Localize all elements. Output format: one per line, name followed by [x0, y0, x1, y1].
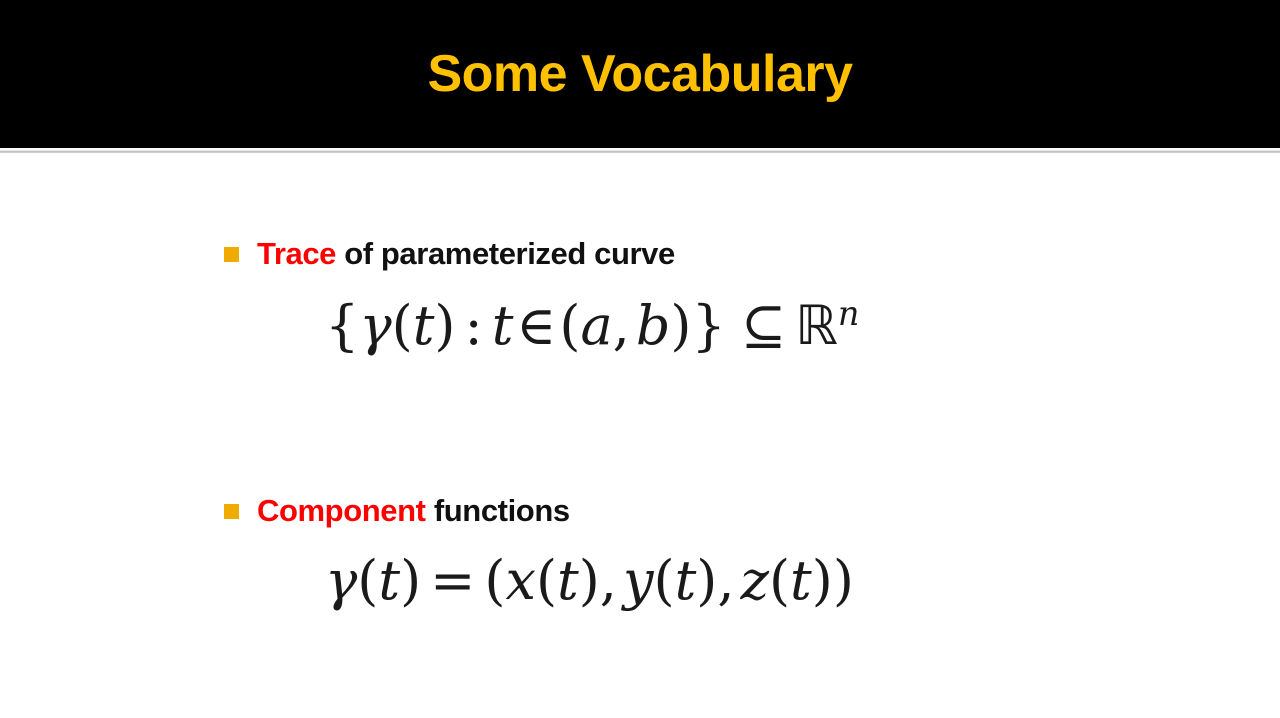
formula2-lparen-3: ( — [536, 549, 557, 612]
formula2-rparen-1: ) — [400, 549, 421, 612]
formula-close-brace: } — [692, 294, 726, 357]
slide-body: Trace of parameterized curve {γ(t):t∈(a,… — [0, 153, 1280, 718]
formula2-t-2: t — [557, 549, 579, 612]
formula2-rparen-5: ) — [812, 549, 833, 612]
bullet-text-trace: Trace of parameterized curve — [257, 238, 675, 269]
formula2-comma-2: , — [717, 549, 734, 612]
formula-component: γ(t)=(x(t),y(t),z(t)) — [0, 550, 1280, 612]
formula-gamma: γ — [359, 294, 391, 357]
formula-a: a — [580, 294, 612, 357]
slide-header-bar: Some Vocabulary — [0, 0, 1280, 148]
bullet-rest-trace: of parameterized curve — [336, 236, 675, 271]
formula2-x: x — [505, 549, 535, 612]
formula-exponent-n: n — [838, 294, 860, 333]
bullet-line-component: Component functions — [0, 488, 1280, 532]
formula-rparen-1: ) — [434, 294, 455, 357]
bullet-keyword-trace: Trace — [257, 236, 336, 271]
formula-lparen-1: ( — [392, 294, 413, 357]
formula2-y: y — [623, 549, 654, 612]
formula-comma: , — [613, 294, 630, 357]
bullet-block-trace: Trace of parameterized curve {γ(t):t∈(a,… — [0, 231, 1280, 357]
formula-element-of: ∈ — [513, 294, 559, 357]
formula-open-brace: { — [325, 294, 359, 357]
formula-colon: : — [462, 294, 486, 357]
formula-subset-eq: ⊆ — [738, 294, 789, 357]
formula-blackboard-r: ℝ — [795, 294, 838, 357]
formula-t-2: t — [492, 294, 514, 357]
formula2-z: z — [741, 549, 769, 612]
formula-rparen-2: ) — [670, 294, 691, 357]
bullet-keyword-component: Component — [257, 493, 426, 528]
formula2-rparen-outer: ) — [833, 549, 854, 612]
bullet-text-component: Component functions — [257, 495, 570, 526]
formula2-comma-1: , — [600, 549, 617, 612]
formula-trace: {γ(t):t∈(a,b)}⊆ℝn — [0, 295, 1280, 357]
formula2-lparen-outer: ( — [484, 549, 505, 612]
bullet-rest-component: functions — [426, 493, 570, 528]
square-bullet-icon — [224, 504, 239, 519]
formula2-gamma: γ — [325, 549, 357, 612]
page-title: Some Vocabulary — [0, 0, 1280, 148]
formula2-rparen-3: ) — [579, 549, 600, 612]
formula-lparen-2: ( — [559, 294, 580, 357]
formula2-equals: = — [427, 549, 478, 612]
presentation-slide: Some Vocabulary Trace of parameterized c… — [0, 0, 1280, 718]
bullet-line-trace: Trace of parameterized curve — [0, 231, 1280, 275]
formula2-rparen-4: ) — [696, 549, 717, 612]
formula-b: b — [636, 294, 671, 357]
square-bullet-icon — [224, 247, 239, 262]
formula2-t-1: t — [378, 549, 400, 612]
bullet-block-component: Component functions γ(t)=(x(t),y(t),z(t)… — [0, 488, 1280, 612]
formula2-t-4: t — [790, 549, 812, 612]
formula-t-1: t — [413, 294, 435, 357]
formula2-lparen-4: ( — [653, 549, 674, 612]
formula2-t-3: t — [675, 549, 697, 612]
formula2-lparen-1: ( — [357, 549, 378, 612]
formula2-lparen-5: ( — [769, 549, 790, 612]
